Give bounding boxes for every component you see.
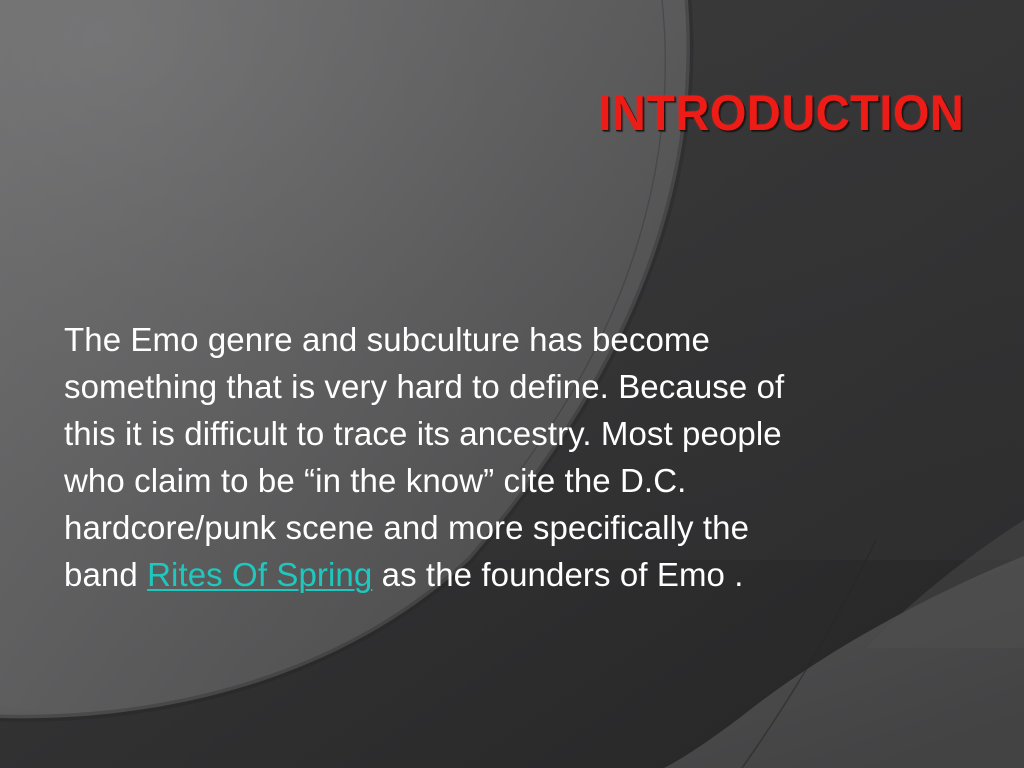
body-line-6: band Rites Of Spring as the founders of … [64, 551, 954, 598]
body-line-2: something that is very hard to define. B… [64, 363, 954, 410]
body-line-5: hardcore/punk scene and more specificall… [64, 504, 954, 551]
slide-title-block: INTRODUCTION [0, 88, 964, 139]
rites-of-spring-link[interactable]: Rites Of Spring [147, 556, 372, 593]
body-line-6-prefix: band [64, 556, 147, 593]
page-title: INTRODUCTION [598, 88, 964, 139]
slide-body-text: The Emo genre and subculture has become … [64, 316, 954, 598]
body-line-3: this it is difficult to trace its ancest… [64, 410, 954, 457]
body-line-6-suffix: as the founders of Emo . [372, 556, 743, 593]
presentation-slide: INTRODUCTION The Emo genre and subcultur… [0, 0, 1024, 768]
body-line-1: The Emo genre and subculture has become [64, 316, 954, 363]
body-line-4: who claim to be “in the know” cite the D… [64, 457, 954, 504]
